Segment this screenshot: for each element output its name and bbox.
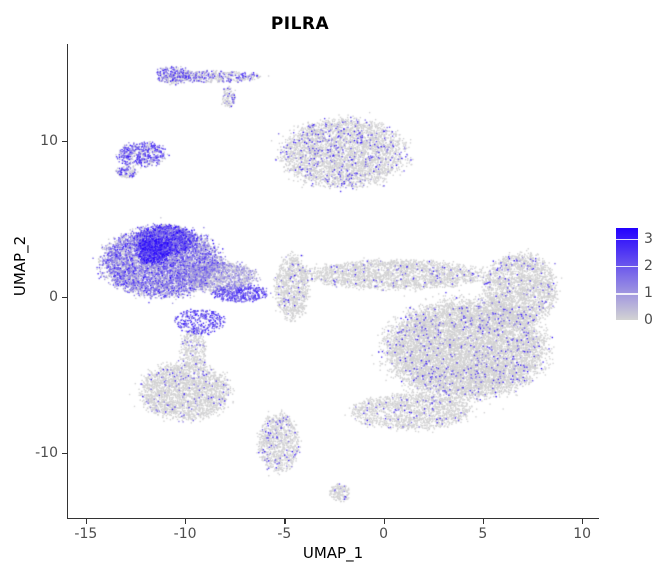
- x-tick-mark: [185, 519, 186, 524]
- x-tick-label: 0: [379, 526, 388, 542]
- y-tick-mark: [62, 453, 67, 454]
- x-tick-label: -10: [174, 526, 197, 542]
- umap-feature-plot: PILRA -15-10-50510 -10010 UMAP_1 UMAP_2 …: [0, 0, 672, 576]
- y-axis-title: UMAP_2: [11, 166, 29, 366]
- x-axis-line: [67, 518, 599, 519]
- x-tick-label: -5: [277, 526, 291, 542]
- plot-panel: [68, 44, 598, 518]
- colorbar-tick-mark: [616, 320, 638, 322]
- colorbar-tick-mark: [616, 239, 638, 241]
- x-tick-label: -15: [74, 526, 97, 542]
- colorbar-tick-label: 3: [644, 231, 653, 247]
- page-title: PILRA: [0, 14, 600, 34]
- colorbar-tick-label: 2: [644, 258, 653, 274]
- y-tick-label: -10: [35, 445, 58, 461]
- y-tick-label: 0: [49, 289, 58, 305]
- x-tick-mark: [384, 519, 385, 524]
- x-tick-label: 5: [478, 526, 487, 542]
- colorbar-tick-label: 1: [644, 285, 653, 301]
- y-tick-mark: [62, 297, 67, 298]
- colorbar-tick-mark: [616, 293, 638, 295]
- y-axis-line: [67, 44, 68, 519]
- y-tick-mark: [62, 141, 67, 142]
- colorbar-tick-label: 0: [644, 312, 653, 328]
- x-tick-mark: [483, 519, 484, 524]
- y-tick-label: 10: [40, 133, 58, 149]
- x-tick-mark: [86, 519, 87, 524]
- scatter-points-canvas: [68, 44, 598, 518]
- colorbar-gradient: [616, 228, 638, 320]
- colorbar-legend: 0123: [614, 222, 670, 326]
- x-tick-label: 10: [573, 526, 591, 542]
- x-axis-title: UMAP_1: [68, 544, 598, 562]
- colorbar-tick-mark: [616, 266, 638, 268]
- x-tick-mark: [582, 519, 583, 524]
- x-tick-mark: [284, 519, 285, 524]
- colorbar: [616, 228, 638, 320]
